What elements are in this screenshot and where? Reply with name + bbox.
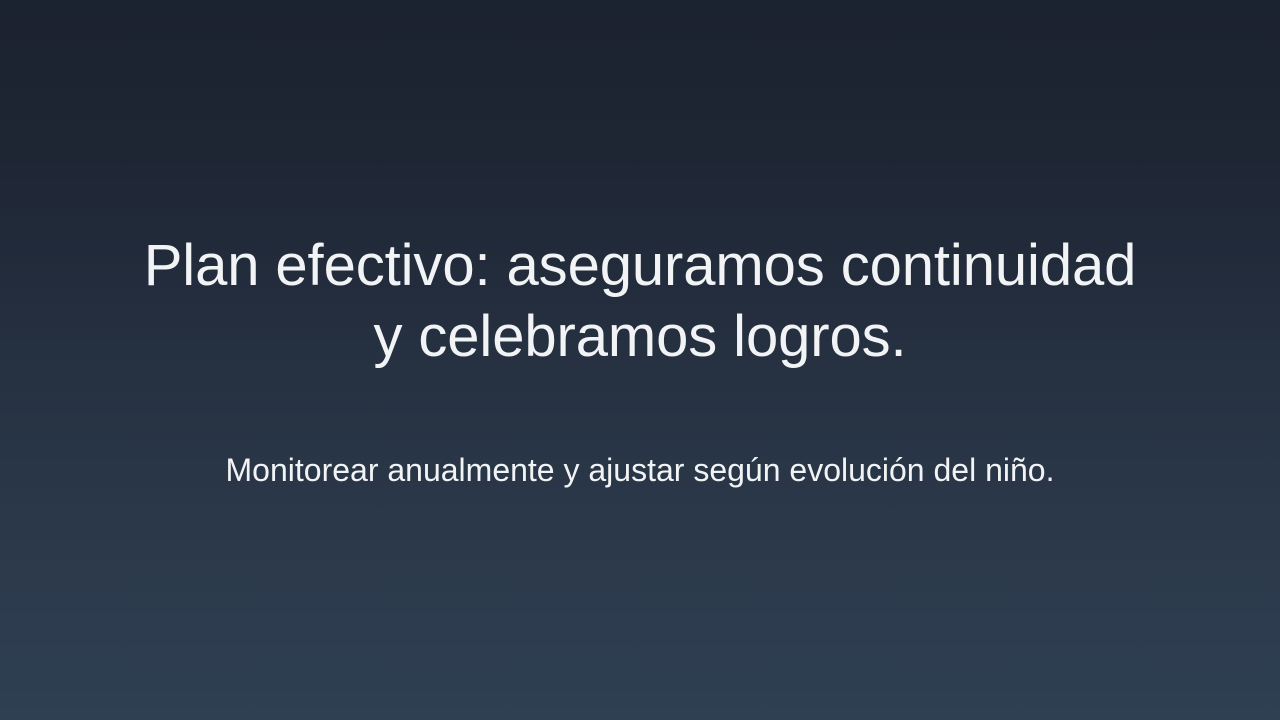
slide-subtitle: Monitorear anualmente y ajustar según ev… — [120, 450, 1160, 490]
slide-title: Plan efectivo: aseguramos continuidad y … — [140, 230, 1140, 372]
presentation-slide: Plan efectivo: aseguramos continuidad y … — [0, 0, 1280, 720]
slide-content-block: Plan efectivo: aseguramos continuidad y … — [0, 0, 1280, 720]
